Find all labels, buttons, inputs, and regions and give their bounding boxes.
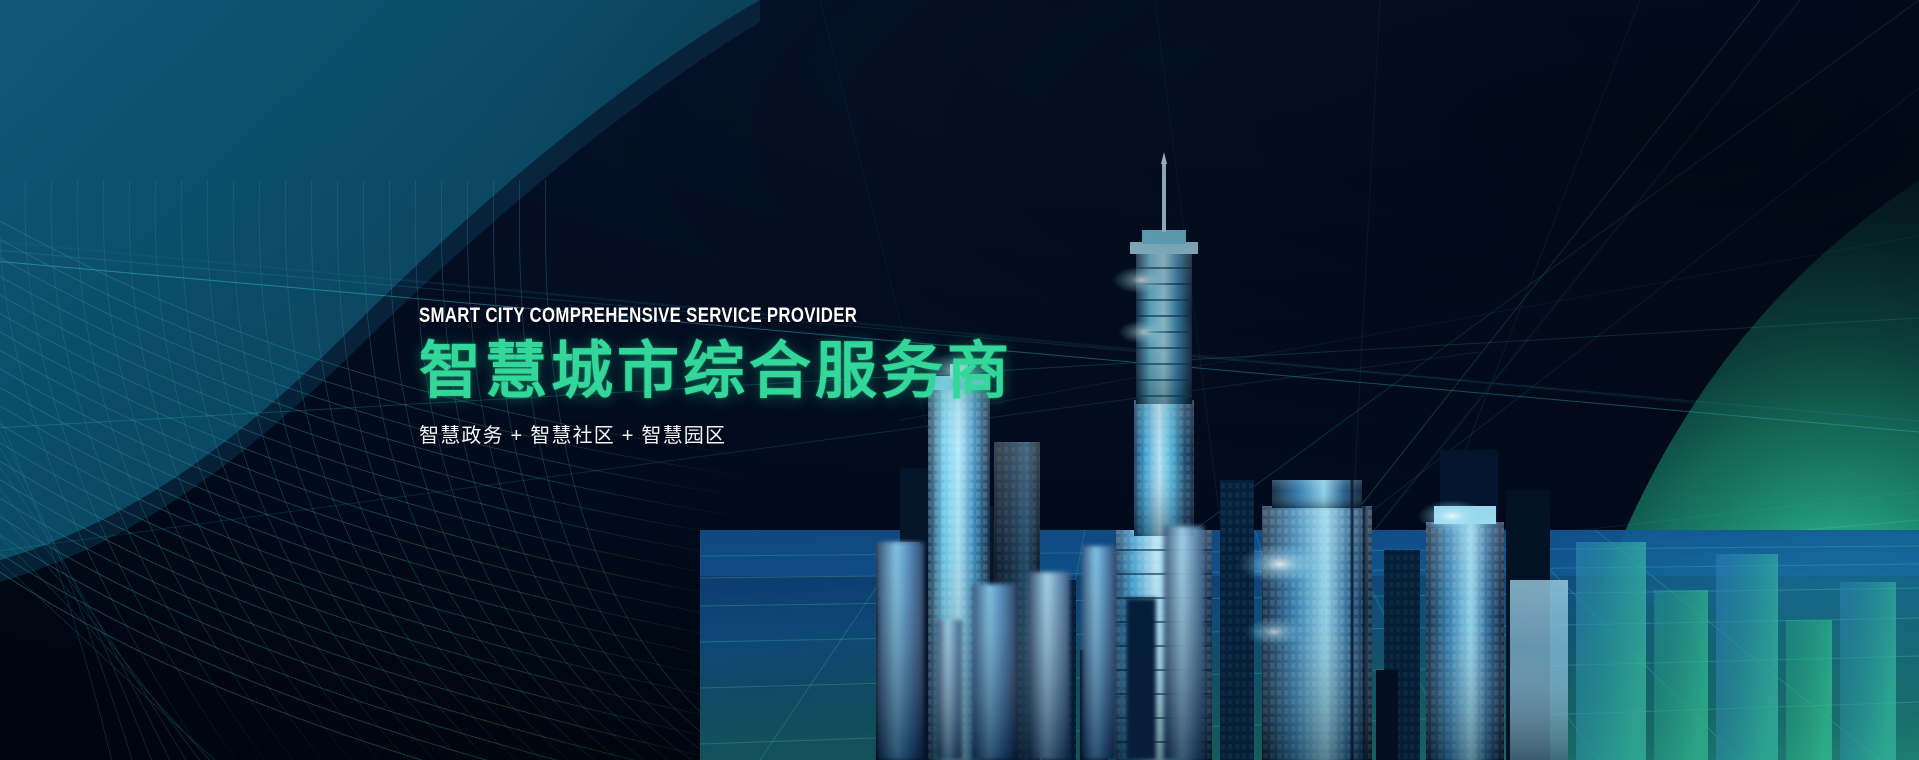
hero-copy: SMART CITY COMPREHENSIVE SERVICE PROVIDE… [419,305,1013,448]
foreground-blurred-bars [860,480,1280,760]
smart-city-hero-banner: SMART CITY COMPREHENSIVE SERVICE PROVIDE… [0,0,1919,760]
hero-eyebrow-english: SMART CITY COMPREHENSIVE SERVICE PROVIDE… [419,305,894,326]
hero-headline-chinese: 智慧城市综合服务商 [419,340,1013,403]
hero-subline-services: 智慧政务 + 智慧社区 + 智慧园区 [419,419,1013,448]
